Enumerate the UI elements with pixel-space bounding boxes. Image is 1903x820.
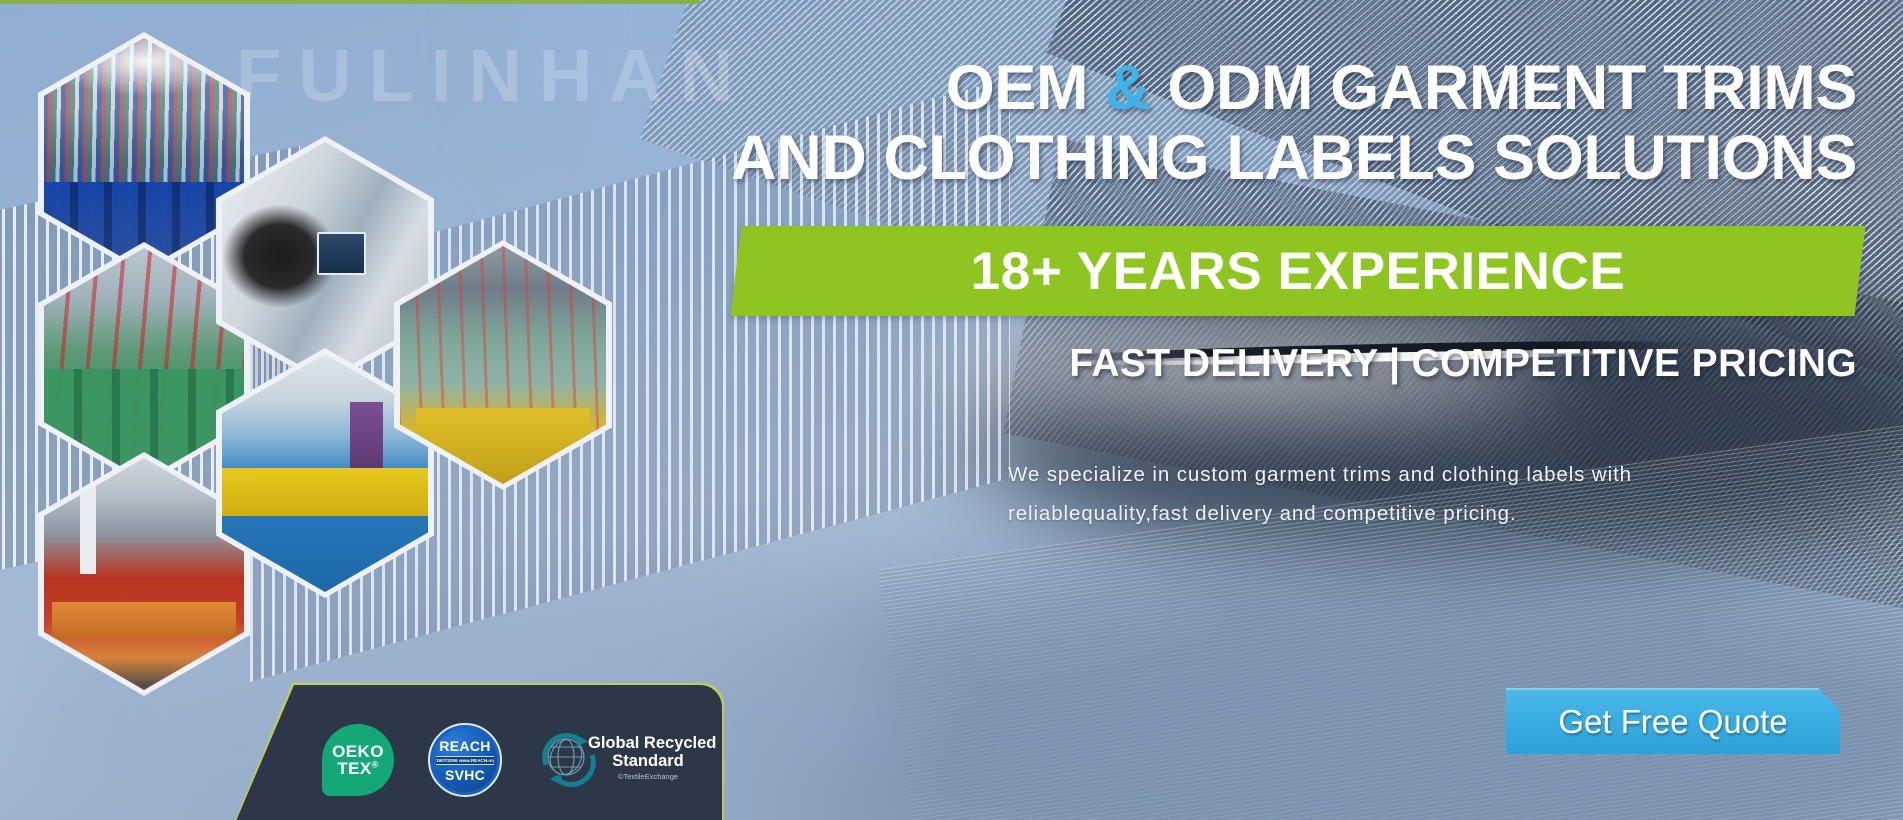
oeko-tex-registered-mark: ® — [372, 759, 379, 769]
headline-ampersand: & — [1105, 53, 1150, 123]
hero-banner: FULINHAN OEKO TEX® REACH — [0, 0, 1903, 820]
oeko-tex-line2: TEX® — [337, 760, 378, 777]
global-recycled-standard-badge[interactable]: Global Recycled Standard ©TextileExchang… — [536, 721, 704, 799]
oeko-tex-line1: OEKO — [332, 743, 384, 760]
top-accent-rule — [0, 0, 700, 4]
grs-line1: Global Recycled — [588, 735, 708, 753]
headline-line-2: AND CLOTHING LABELS SOLUTIONS — [731, 122, 1857, 194]
get-free-quote-button[interactable]: Get Free Quote — [1506, 688, 1840, 754]
reach-microtext: 1907/2006 www.REACH.org.cn — [436, 756, 494, 765]
experience-badge: 18+ YEARS EXPERIENCE — [730, 226, 1865, 316]
oeko-tex-badge[interactable]: OEKO TEX® — [322, 724, 394, 796]
value-proposition-line: FAST DELIVERY | COMPETITIVE PRICING — [1069, 342, 1857, 386]
grs-line2: Standard — [588, 753, 708, 771]
headline-line-1: OEM & ODM GARMENT TRIMS — [946, 52, 1857, 124]
description-paragraph: We specialize in custom garment trims an… — [1008, 455, 1768, 534]
experience-badge-label: 18+ YEARS EXPERIENCE — [736, 226, 1860, 316]
grs-credit: ©TextileExchange — [588, 773, 708, 781]
certification-panel: OEKO TEX® REACH 1907/2006 www.REACH.org.… — [230, 685, 722, 820]
factory-photo-cluster — [0, 0, 720, 700]
headline-part-odm: ODM GARMENT TRIMS — [1150, 53, 1857, 123]
reach-label: REACH — [439, 738, 490, 754]
svhc-label: SVHC — [445, 767, 485, 783]
headline-part-oem: OEM — [946, 53, 1105, 123]
oeko-tex-line2-text: TEX — [337, 759, 371, 778]
reach-svhc-badge[interactable]: REACH 1907/2006 www.REACH.org.cn SVHC — [428, 723, 502, 797]
